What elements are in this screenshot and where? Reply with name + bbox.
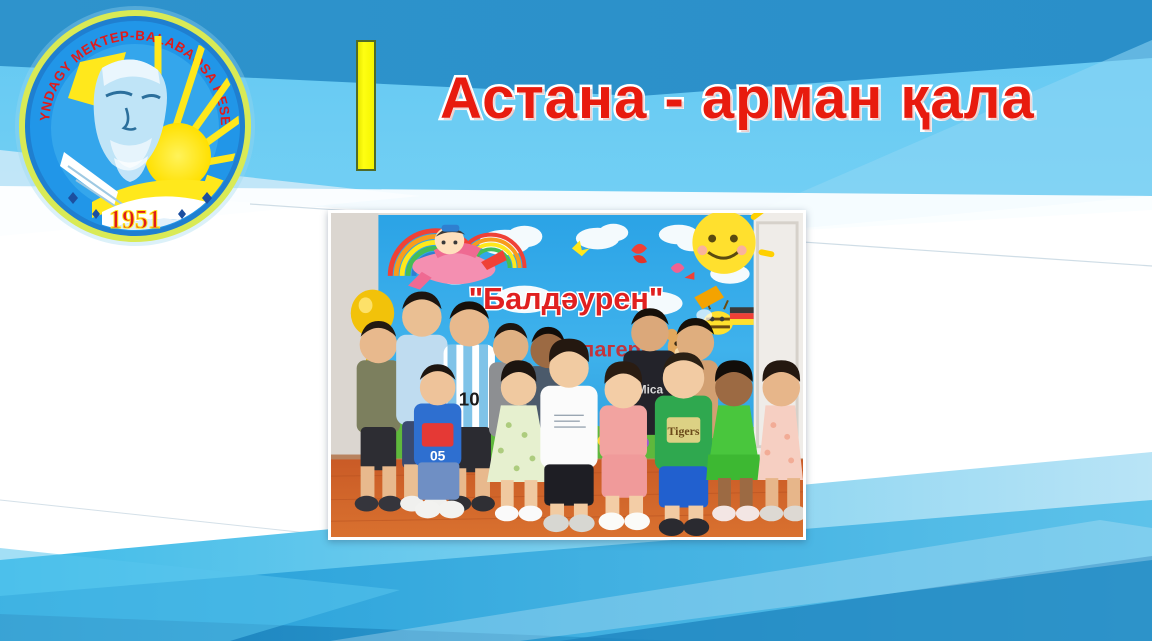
logo-year: 1951	[109, 205, 161, 234]
page-title: Астана - арман қала	[440, 58, 1040, 138]
shirt-print: Tigers	[668, 424, 700, 438]
school-logo-emblem: "ABAI ATYNDAGY MEKTEP-BALABAQSA KESENI" …	[6, 6, 264, 251]
presentation-slide: "ABAI ATYNDAGY MEKTEP-BALABAQSA KESENI" …	[0, 0, 1152, 641]
shirt-number-small: 05	[430, 448, 446, 463]
group-photo: "Балдәурен" лагерь	[328, 210, 806, 540]
yellow-accent-bar	[356, 40, 376, 171]
banner-title: "Балдәурен"	[469, 282, 664, 316]
shirt-number: 10	[459, 388, 480, 409]
school-logo: "ABAI ATYNDAGY MEKTEP-BALABAQSA KESENI" …	[6, 6, 264, 251]
group-photo-illustration: "Балдәурен" лагерь	[331, 213, 803, 537]
